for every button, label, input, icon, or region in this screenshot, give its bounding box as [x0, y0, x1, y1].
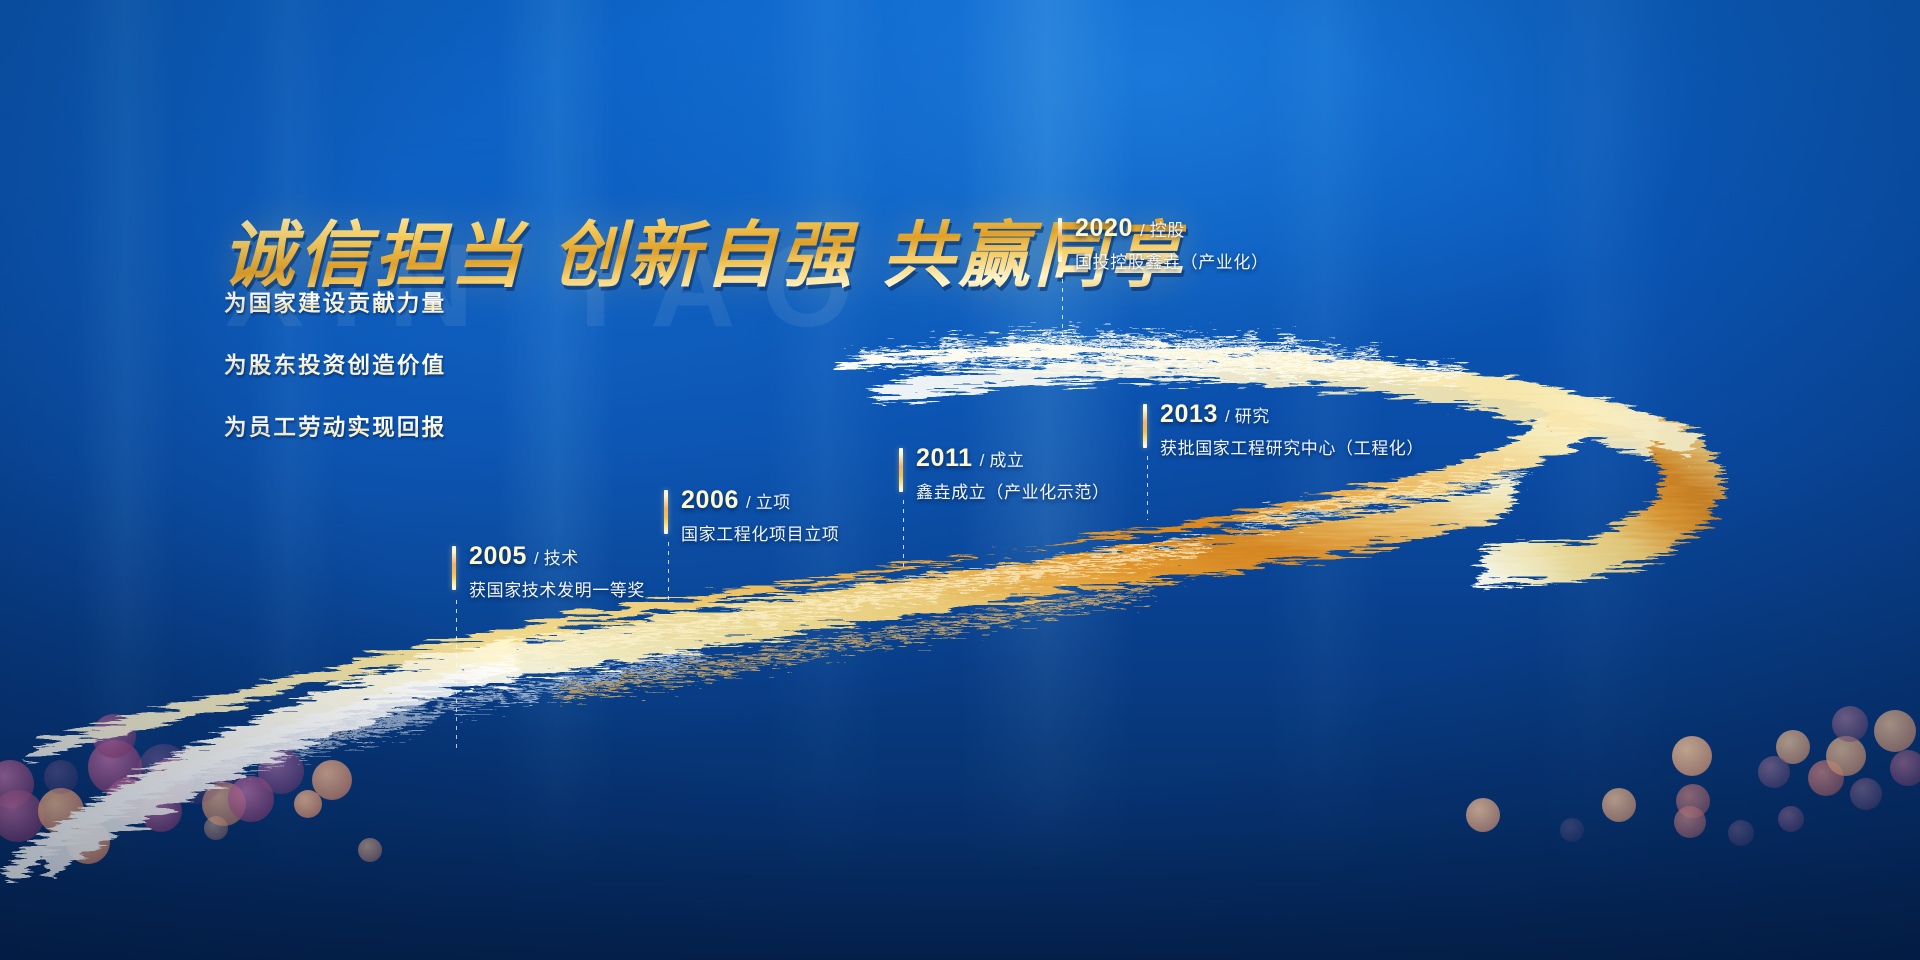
bokeh-dot — [202, 782, 246, 826]
bokeh-dot — [1676, 784, 1710, 818]
bokeh-dot — [358, 838, 382, 862]
bokeh-dot — [106, 778, 150, 822]
bokeh-dot — [0, 760, 34, 808]
bokeh-dot — [1560, 818, 1584, 842]
slogan-item: 为股东投资创造价值 — [224, 348, 446, 380]
bokeh-dot — [166, 746, 224, 804]
bokeh-dot — [1466, 798, 1500, 832]
bokeh-dot — [1826, 736, 1866, 776]
milestone-2005[interactable]: 2005/技术 获国家技术发明一等奖 — [452, 542, 645, 601]
milestone-year: 2013 — [1160, 400, 1218, 428]
bokeh-dot — [294, 790, 322, 818]
milestone-year: 2011 — [916, 444, 973, 472]
banner-canvas: XIN YAO 诚信担当创新自强共赢同享 为国家建设贡献力量 为股东投资创造价值… — [0, 0, 1920, 960]
milestone-heading: 2013/研究 — [1160, 400, 1424, 427]
bokeh-dot — [1778, 806, 1804, 832]
milestone-accent-bar — [452, 546, 456, 590]
milestone-category: 控股 — [1150, 221, 1185, 240]
milestone-content: 2013/研究 获批国家工程研究中心（工程化） — [1143, 400, 1424, 459]
bokeh-dot — [312, 760, 352, 800]
milestone-content: 2020/控股 国投控股鑫垚（产业化） — [1058, 214, 1269, 273]
bokeh-dot — [150, 758, 194, 802]
milestone-accent-bar — [664, 490, 668, 534]
bokeh-dot — [1874, 710, 1916, 752]
milestone-separator: / — [1140, 221, 1145, 240]
connector-dashed-line — [668, 542, 669, 602]
milestone-2006[interactable]: 2006/立项 国家工程化项目立项 — [664, 486, 839, 545]
bokeh-dot — [66, 820, 110, 864]
bokeh-dot — [38, 788, 84, 834]
slogan-list: 为国家建设贡献力量 为股东投资创造价值 为员工劳动实现回报 — [224, 286, 446, 442]
bokeh-dot — [138, 744, 190, 796]
bokeh-dot — [1776, 730, 1810, 764]
bokeh-dot — [140, 790, 182, 832]
bokeh-dot — [1672, 736, 1712, 776]
milestone-separator: / — [980, 451, 985, 470]
connector-dashed-line — [456, 600, 457, 750]
milestone-heading: 2011/成立 — [916, 444, 1110, 471]
bokeh-dot — [1728, 820, 1754, 846]
headline-part-2: 创新自强 — [552, 213, 856, 297]
milestone-separator: / — [1225, 407, 1230, 426]
milestone-accent-bar — [899, 448, 903, 492]
milestone-category: 成立 — [989, 451, 1024, 470]
milestone-heading: 2005/技术 — [469, 542, 645, 569]
milestone-description: 国投控股鑫垚（产业化） — [1075, 248, 1269, 273]
milestone-accent-bar — [1058, 218, 1062, 262]
bokeh-dot — [1832, 706, 1868, 742]
milestone-heading: 2006/立项 — [681, 486, 839, 513]
bokeh-dot — [1758, 756, 1790, 788]
bokeh-dot — [0, 790, 44, 842]
bokeh-dot — [88, 740, 142, 794]
bokeh-dot — [1674, 806, 1706, 838]
milestone-description: 国家工程化项目立项 — [681, 520, 839, 545]
bokeh-dot — [1890, 750, 1920, 786]
slogan-item: 为国家建设贡献力量 — [224, 286, 446, 318]
bokeh-dot — [228, 776, 274, 822]
milestone-heading: 2020/控股 — [1075, 214, 1269, 241]
bokeh-dot — [92, 714, 136, 758]
connector-dashed-line — [1147, 456, 1148, 520]
milestone-separator: / — [534, 549, 539, 568]
bokeh-dot — [204, 816, 228, 840]
connector-dashed-line — [903, 500, 904, 567]
milestone-2011[interactable]: 2011/成立 鑫垚成立（产业化示范） — [899, 444, 1110, 503]
milestone-2013[interactable]: 2013/研究 获批国家工程研究中心（工程化） — [1143, 400, 1424, 459]
bokeh-dot — [1602, 788, 1636, 822]
milestone-description: 鑫垚成立（产业化示范） — [916, 478, 1110, 503]
milestone-accent-bar — [1143, 404, 1147, 448]
bokeh-dot — [1808, 760, 1844, 796]
milestone-content: 2005/技术 获国家技术发明一等奖 — [452, 542, 645, 601]
milestone-year: 2006 — [681, 486, 739, 514]
slogan-item: 为员工劳动实现回报 — [224, 410, 446, 442]
milestone-year: 2020 — [1075, 214, 1133, 242]
bokeh-dot — [44, 760, 78, 794]
bokeh-dot — [258, 748, 304, 794]
milestone-content: 2006/立项 国家工程化项目立项 — [664, 486, 839, 545]
milestone-separator: / — [746, 493, 751, 512]
bokeh-dot — [330, 720, 348, 738]
milestone-description: 获国家技术发明一等奖 — [469, 576, 645, 601]
bokeh-dot — [1850, 778, 1882, 810]
milestone-content: 2011/成立 鑫垚成立（产业化示范） — [899, 444, 1110, 503]
milestone-description: 获批国家工程研究中心（工程化） — [1160, 434, 1424, 459]
milestone-category: 立项 — [756, 493, 791, 512]
milestone-year: 2005 — [469, 542, 527, 570]
bokeh-dot — [204, 748, 242, 786]
milestone-category: 技术 — [544, 549, 579, 568]
headline-part-1: 诚信担当 — [222, 213, 526, 297]
milestone-2020[interactable]: 2020/控股 国投控股鑫垚（产业化） — [1058, 214, 1269, 273]
milestone-category: 研究 — [1235, 407, 1270, 426]
